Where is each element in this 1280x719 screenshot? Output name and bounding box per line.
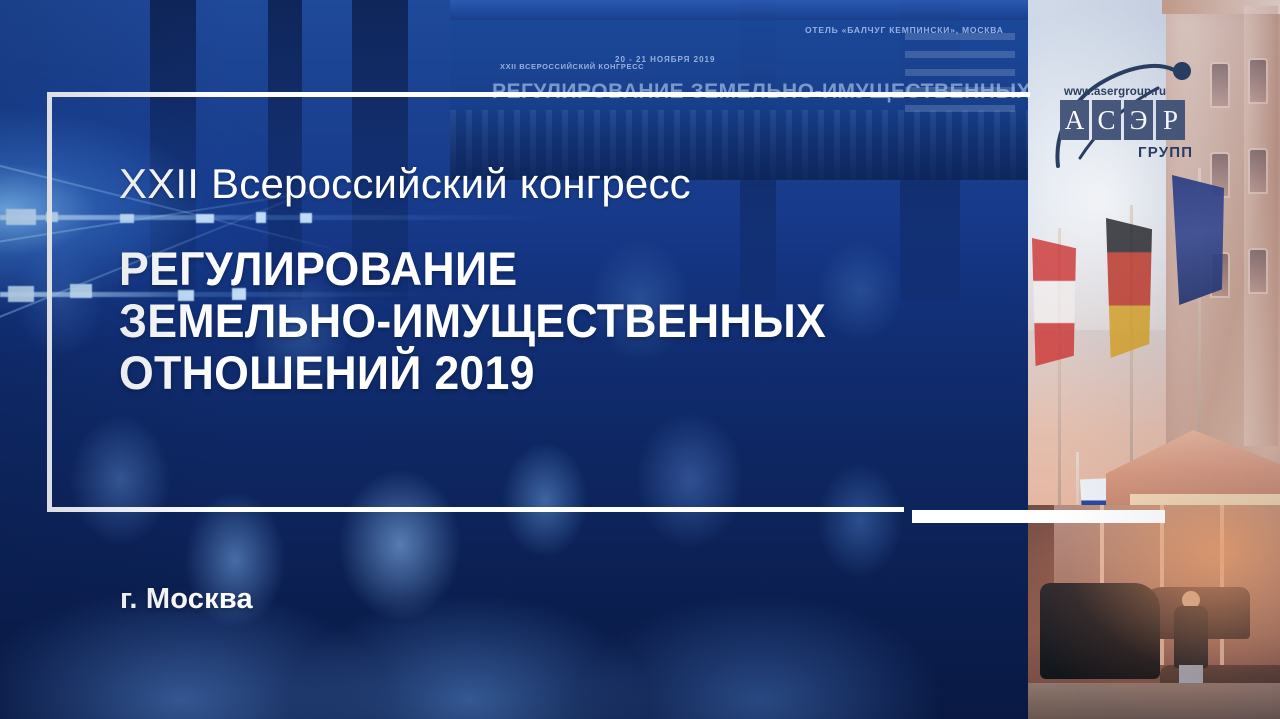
screen-top-rail <box>450 0 1028 20</box>
flag-austria <box>1032 238 1076 366</box>
street-scene <box>1010 505 1280 719</box>
flag-european-union <box>1172 175 1224 305</box>
building-window <box>1250 150 1266 192</box>
headline-line-2: ЗЕМЕЛЬНО-ИМУЩЕСТВЕННЫХ <box>119 295 955 347</box>
logo-letter-s: С <box>1092 100 1121 140</box>
building-window <box>1250 250 1266 292</box>
stage-screen: XXII ВСЕРОССИЙСКИЙ КОНГРЕСС 20 - 21 НОЯБ… <box>450 0 1028 180</box>
headline-line-1: РЕГУЛИРОВАНИЕ <box>119 243 955 295</box>
title-card-stage: XXII ВСЕРОССИЙСКИЙ КОНГРЕСС 20 - 21 НОЯБ… <box>0 0 1280 719</box>
flare-dot <box>8 286 34 302</box>
event-subtitle: XXII Всероссийский конгресс <box>119 160 691 208</box>
banner-venue-text: ОТЕЛЬ «БАЛЧУГ КЕМПИНСКИ», МОСКВА <box>805 25 1004 35</box>
frame-bottom-edge-left <box>47 507 904 512</box>
logo-letter-squares: А С Э Р <box>1060 100 1185 140</box>
logo-suffix-text: ГРУПП <box>1138 144 1193 161</box>
logo-letter-e: Э <box>1124 100 1153 140</box>
logo-letter-a: А <box>1060 100 1089 140</box>
sunset-glow <box>1010 505 1280 719</box>
frame-bottom-edge-right <box>912 510 1165 523</box>
building-window <box>1212 64 1228 106</box>
flare-dot <box>300 213 312 223</box>
flare-streak <box>0 215 560 220</box>
frame-left-edge <box>47 92 52 512</box>
logo-letter-r: Р <box>1156 100 1185 140</box>
frame-top-edge <box>47 92 1030 97</box>
building-window <box>1250 60 1266 102</box>
flare-dot <box>6 209 36 225</box>
event-city: г. Москва <box>120 583 253 616</box>
headline-line-3: ОТНОШЕНИЙ 2019 <box>119 347 955 399</box>
logo-website-url: www.asergroup.ru <box>1064 86 1166 98</box>
event-headline: РЕГУЛИРОВАНИЕ ЗЕМЕЛЬНО-ИМУЩЕСТВЕННЫХ ОТН… <box>119 243 999 399</box>
flag-germany <box>1106 218 1152 358</box>
aser-group-logo[interactable]: www.asergroup.ru А С Э Р ГРУПП <box>1040 44 1210 174</box>
banner-dates-text: 20 - 21 НОЯБРЯ 2019 <box>615 55 715 64</box>
